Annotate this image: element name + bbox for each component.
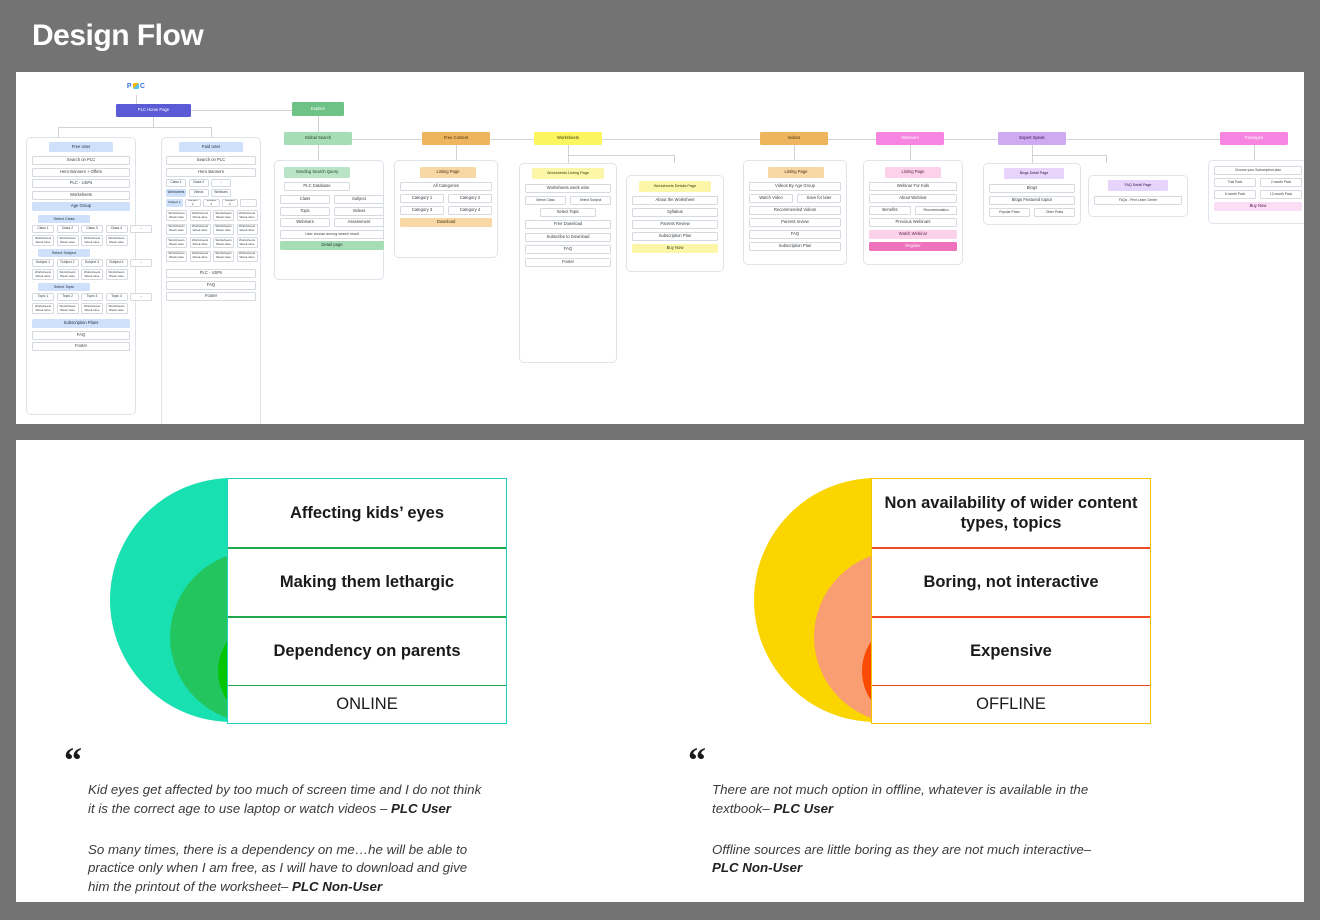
node-ws-select-topic[interactable]: Select Topic [540,208,596,217]
offline-section: Non availability of wider content types,… [660,466,1304,897]
connector-line [568,145,569,155]
videos-item-3[interactable]: Subscription Plan [749,242,841,251]
offline-row-0: Non availability of wider content types,… [872,479,1150,548]
node-pack-2[interactable]: 6-month Pack [1214,190,1256,199]
paid-subject-chip-0[interactable]: Subject 1 [166,199,183,207]
node-webinars[interactable]: Webinars [876,132,944,145]
node-ws-select-subject[interactable]: Select Subject [570,196,611,205]
connector-line [1032,155,1106,156]
ws-listing-item-3[interactable]: Footer [525,258,611,267]
free-class-card-3[interactable]: Worksheets Week wise [106,235,128,246]
free-topic-chip-3[interactable]: Topic 4 [106,293,128,301]
node-webinar-recommendation[interactable]: Recommendation [915,206,957,215]
paid-card-r1-1[interactable]: Worksheets Week wise [190,224,211,235]
node-category-0[interactable]: Category 1 [400,194,444,203]
quote-text-1: So many times, there is a dependency on … [88,842,467,895]
quote-author-0: PLC User [391,801,451,816]
node-ws-listing-page[interactable]: Worksheets Listing Page [532,168,604,179]
node-select-subject[interactable]: Select Subject [38,249,90,257]
paid-type-chip-1[interactable]: Videos [189,189,209,197]
node-plc-database[interactable]: PLC Database [284,182,350,191]
node-category-1[interactable]: Category 2 [448,194,492,203]
free-class-chip-0[interactable]: Class 1 [32,225,54,233]
node-pack-0[interactable]: Trial Pack [1214,178,1256,187]
connector-line [136,95,137,104]
node-choose-subscription[interactable]: Choose your Subscription plan [1214,166,1302,175]
free-class-chip-2[interactable]: Class 3 [81,225,103,233]
node-videos-by-age-group[interactable]: Videos By Age Group [749,182,841,191]
node-blogs[interactable]: Blogs [989,184,1075,193]
online-section: Affecting kids’ eyesMaking them lethargi… [16,466,660,897]
node-category-3[interactable]: Category 4 [448,206,492,215]
offline-base-label: OFFLINE [872,686,1150,723]
node-subscription-plans[interactable]: Subscription Plans [32,319,130,328]
gs-pair-2-b[interactable]: Assessment [334,218,384,227]
free-subject-card-2[interactable]: Worksheets Week wise [81,269,103,280]
paid-card-r0-2[interactable]: Worksheets Week wise [213,210,234,221]
page-title: Design Flow [32,19,203,53]
node-worksheets[interactable]: Worksheets [534,132,602,145]
node-older-posts[interactable]: Older Posts [1034,208,1075,217]
online-base-label: ONLINE [228,686,506,723]
node-age-group[interactable]: Age Group [32,202,130,211]
connector-line [490,139,534,140]
ws-details-item-3[interactable]: Subscription Plan [632,232,718,241]
node-pack-1[interactable]: 2-month Pack [1260,178,1302,187]
paid-subject-chip-2[interactable]: Subject 3 [203,199,220,207]
free-topic-card-1[interactable]: Worksheets Week wise [57,303,79,314]
insights-panel: Affecting kids’ eyesMaking them lethargi… [16,440,1304,902]
free-user-item-2[interactable]: PLC - USPs [32,179,130,188]
connector-line [1066,139,1220,140]
free-subject-card-0[interactable]: Worksheets Week wise [32,269,54,280]
paid-user-item-1[interactable]: Hero Banners [166,168,256,177]
connector-line [58,127,59,137]
ws-details-item-1[interactable]: Syllabus [632,208,718,217]
offline-row-stack: Non availability of wider content types,… [871,478,1151,724]
node-expert-speak[interactable]: Expert Speak [998,132,1066,145]
node-detail-page[interactable]: Detail page [280,241,384,250]
gs-pair-2-a[interactable]: Webinars [280,218,330,227]
paid-card-r2-3[interactable]: Worksheets Week wise [237,237,258,248]
connector-line [674,155,675,163]
connector-line [1032,145,1033,155]
paid-card-r0-1[interactable]: Worksheets Week wise [190,210,211,221]
free-topic-card-2[interactable]: Worksheets Week wise [81,303,103,314]
sitemap-diagram: PCPLC Home PageExploreFree UserSearch on… [16,72,1304,424]
connector-line [352,139,422,140]
gs-pair-0-a[interactable]: Class [280,195,330,204]
offline-row-1: Boring, not interactive [872,548,1150,617]
node-blogs-featured[interactable]: Blogs Featured topics [989,196,1075,205]
node-fc-listing-page[interactable]: Listing Page [420,167,476,178]
node-user-choose-result[interactable]: User choose among search result [280,230,384,239]
quote-author-1: PLC Non-User [712,860,802,875]
quote-author-1: PLC Non-User [292,879,382,894]
node-paid-faq[interactable]: FAQ [166,281,256,290]
free-class-card-1[interactable]: Worksheets Week wise [57,235,79,246]
paid-card-r0-0[interactable]: Worksheets Week wise [166,210,187,221]
node-paid-footer[interactable]: Footer [166,292,256,301]
connector-line [944,139,998,140]
paid-type-chip-0[interactable]: Worksheets [166,189,186,197]
paid-class-chip-2[interactable]: ... [211,179,231,187]
node-sending-search-query[interactable]: Sending Search Query [284,167,350,178]
ws-details-item-0[interactable]: About the Worksheet [632,196,718,205]
paid-card-r2-2[interactable]: Worksheets Week wise [213,237,234,248]
node-paid-user-title[interactable]: Paid User [179,142,243,152]
free-topic-chip-0[interactable]: Topic 1 [32,293,54,301]
page-header: Design Flow [0,0,1320,72]
quote-1: Offline sources are little boring as the… [712,841,1118,879]
gs-pair-0-b[interactable]: Subject [334,195,384,204]
connector-line [828,139,876,140]
videos-item-0[interactable]: Recommended Videos [749,206,841,215]
free-topic-chip-2[interactable]: Topic 3 [81,293,103,301]
node-free-faq[interactable]: FAQ [32,331,130,340]
paid-card-r2-0[interactable]: Worksheets Week wise [166,237,187,248]
ws-listing-item-2[interactable]: FAQ [525,245,611,254]
quote-0: There are not much option in offline, wh… [712,781,1118,819]
online-venn: Affecting kids’ eyesMaking them lethargi… [98,478,578,728]
node-videos-listing-page[interactable]: Listing Page [768,167,824,178]
quote-0: Kid eyes get affected by too much of scr… [88,781,484,819]
paid-user-item-0[interactable]: Search on PLC [166,156,256,165]
paid-card-r3-2[interactable]: Worksheets Week wise [213,251,234,262]
connector-line [153,117,154,127]
connector-line [211,127,212,137]
free-class-chip-3[interactable]: Class 4 [106,225,128,233]
node-ws-select-class[interactable]: Select Class [525,196,566,205]
free-subject-card-3[interactable]: Worksheets Week wise [106,269,128,280]
quote-text-1: Offline sources are little boring as the… [712,842,1091,857]
free-user-item-3[interactable]: Worksheets [32,191,130,200]
free-class-chip-4[interactable]: ... [130,225,152,233]
paid-subject-chip-3[interactable]: Subject 4 [222,199,239,207]
online-row-stack: Affecting kids’ eyesMaking them lethargi… [227,478,507,724]
node-free-content[interactable]: Free Content [422,132,490,145]
paid-class-chip-1[interactable]: Class 2 [189,179,209,187]
design-flow-page: Design Flow PCPLC Home PageExploreFree U… [0,0,1320,920]
paid-card-r3-0[interactable]: Worksheets Week wise [166,251,187,262]
free-subject-chip-0[interactable]: Subject 1 [32,259,54,267]
quote-text-0: There are not much option in offline, wh… [712,782,1088,816]
paid-type-chip-2[interactable]: Webinars [211,189,231,197]
paid-card-r2-1[interactable]: Worksheets Week wise [190,237,211,248]
connector-line [602,139,760,140]
online-row-1: Making them lethargic [228,548,506,617]
node-faq-detail-page[interactable]: FAQ Detail Page [1108,180,1168,191]
online-quotes: “ Kid eyes get affected by too much of s… [64,746,484,897]
free-class-card-2[interactable]: Worksheets Week wise [81,235,103,246]
node-ws-week-wise[interactable]: Worksheets week wise [525,184,611,193]
node-popular-posts[interactable]: Popular Posts [989,208,1030,217]
free-topic-card-0[interactable]: Worksheets Week wise [32,303,54,314]
quote-1: So many times, there is a dependency on … [88,841,484,898]
node-select-topic[interactable]: Select Topic [38,283,90,291]
paid-card-r1-2[interactable]: Worksheets Week wise [213,224,234,235]
free-subject-chip-3[interactable]: Subject 4 [106,259,128,267]
node-register[interactable]: Register [869,242,957,251]
paid-subject-chip-1[interactable]: Subject 2 [185,199,202,207]
free-class-chip-1[interactable]: Class 2 [57,225,79,233]
online-row-0: Affecting kids’ eyes [228,479,506,548]
node-download[interactable]: Download [400,218,492,227]
paid-card-r0-3[interactable]: Worksheets Week wise [237,210,258,221]
plc-logo: PC [116,77,156,95]
node-plc-home-page[interactable]: PLC Home Page [116,104,191,117]
free-topic-card-3[interactable]: Worksheets Week wise [106,303,128,314]
connector-line [58,127,211,128]
webinars-top-item-1[interactable]: About Webinar [869,194,957,203]
offline-row-2: Expensive [872,617,1150,686]
free-user-item-1[interactable]: Hero Banners + Offers [32,168,130,177]
node-ws-details-page[interactable]: Worksheets Details Page [639,181,711,192]
node-packages-buy-now[interactable]: Buy Now [1214,202,1302,211]
node-webinar-benefits[interactable]: Benefits [869,206,911,215]
offline-quotes: “ There are not much option in offline, … [688,746,1118,878]
node-packages[interactable]: Packages [1220,132,1288,145]
connector-line [191,110,292,111]
connector-line [1106,155,1107,163]
ws-details-item-2[interactable]: Parents Review [632,220,718,229]
node-free-user-title[interactable]: Free User [49,142,113,152]
node-all-categories[interactable]: All Categories [400,182,492,191]
paid-card-r3-1[interactable]: Worksheets Week wise [190,251,211,262]
sitemap-panel: PCPLC Home PageExploreFree UserSearch on… [16,72,1304,424]
free-user-item-0[interactable]: Search on PLC [32,156,130,165]
node-watch-webinar[interactable]: Watch Webinar [869,230,957,239]
node-save-for-later[interactable]: Save for later [797,194,841,203]
quote-author-0: PLC User [773,801,833,816]
connector-line [568,155,674,156]
free-topic-chip-1[interactable]: Topic 2 [57,293,79,301]
ws-listing-item-1[interactable]: Subscribe to Download [525,233,611,242]
quote-mark-icon: “ [688,746,1118,775]
videos-item-2[interactable]: FAQ [749,230,841,239]
free-subject-chip-4[interactable]: ... [130,259,152,267]
ws-listing-item-0[interactable]: Free Download [525,220,611,229]
webinars-item-0[interactable]: Previous Webinars [869,218,957,227]
node-paid-usps[interactable]: PLC - USPs [166,269,256,278]
node-global-search[interactable]: Global Search [284,132,352,145]
node-faq-print-learn-center[interactable]: FAQs - Print Learn Center [1094,196,1182,205]
node-videos[interactable]: Videos [760,132,828,145]
paid-class-chip-0[interactable]: Class 1 [166,179,186,187]
node-free-footer[interactable]: Footer [32,342,130,351]
node-blogs-detail-page[interactable]: Blogs Detail Page [1004,168,1064,179]
connector-line [568,155,569,163]
node-category-2[interactable]: Category 3 [400,206,444,215]
paid-card-r3-3[interactable]: Worksheets Week wise [237,251,258,262]
gs-pair-1-b[interactable]: Videos [334,207,384,216]
free-subject-card-1[interactable]: Worksheets Week wise [57,269,79,280]
free-topic-chip-4[interactable]: ... [130,293,152,301]
logo-mark-icon [133,83,139,89]
node-select-class[interactable]: Select Class [38,215,90,223]
paid-card-r1-3[interactable]: Worksheets Week wise [237,224,258,235]
paid-card-r1-0[interactable]: Worksheets Week wise [166,224,187,235]
node-ws-buy-now[interactable]: Buy Now [632,244,718,253]
node-explore[interactable]: Explore [292,102,344,116]
node-watch-video[interactable]: Watch Video [749,194,793,203]
free-subject-chip-2[interactable]: Subject 3 [81,259,103,267]
free-subject-chip-1[interactable]: Subject 2 [57,259,79,267]
quote-mark-icon: “ [64,746,484,775]
videos-item-1[interactable]: Parents review [749,218,841,227]
webinars-top-item-0[interactable]: Webinar For Kids [869,182,957,191]
online-row-2: Dependency on parents [228,617,506,686]
free-class-card-0[interactable]: Worksheets Week wise [32,235,54,246]
offline-venn: Non availability of wider content types,… [742,478,1222,728]
node-pack-3[interactable]: 12-month Pack [1260,190,1302,199]
paid-subject-chip-4[interactable]: ... [240,199,257,207]
node-webinars-listing-page[interactable]: Listing Page [885,167,941,178]
gs-pair-1-a[interactable]: Topic [280,207,330,216]
connector-line [1032,155,1033,163]
